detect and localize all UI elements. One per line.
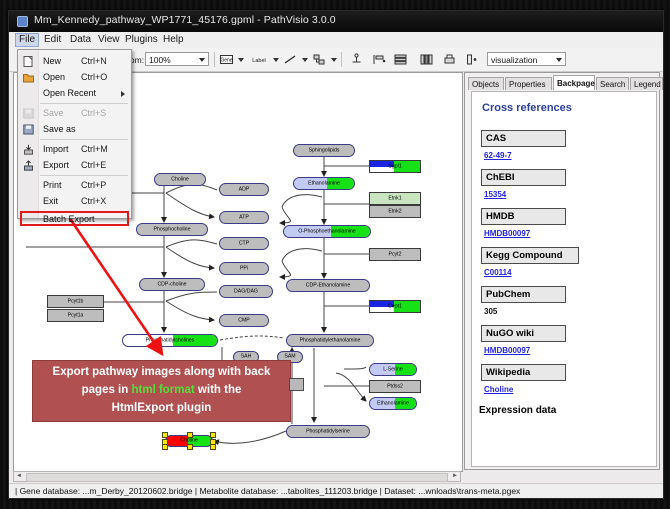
interaction-dropdown-icon[interactable] — [331, 58, 337, 62]
application-window: Mm_Kennedy_pathway_WP1771_45176.gpml - P… — [8, 10, 664, 499]
node-label: ATP — [220, 212, 268, 223]
xref-value-chebi[interactable]: 15354 — [484, 190, 506, 199]
scrollbar-thumb[interactable] — [26, 473, 448, 482]
export-icon — [23, 160, 34, 171]
submenu-arrow-icon — [121, 91, 125, 97]
xref-label-cas: CAS — [481, 130, 566, 147]
visualization-select[interactable]: visualization — [487, 52, 566, 66]
menu-plugins[interactable]: Plugins — [121, 34, 162, 46]
chevron-down-icon-2 — [556, 58, 562, 62]
expression-data-heading: Expression data — [479, 405, 556, 416]
node-label: Ethanolamine — [294, 178, 354, 189]
application-icon — [17, 16, 28, 27]
interaction-icon[interactable] — [312, 52, 327, 67]
tab-backpage[interactable]: Backpage — [553, 75, 595, 90]
gene-node-pcyt1a[interactable]: Pcyt1a — [47, 309, 104, 322]
node-label: Cept1 — [370, 301, 420, 312]
line-dropdown-icon[interactable] — [302, 58, 308, 62]
menu-file[interactable]: File — [15, 33, 39, 47]
node-label: CDP-Ethanolamine — [287, 280, 369, 291]
node-label: L-Serine — [370, 364, 416, 375]
sidebar-panel: Objects Properties Backpage Search Legen… — [464, 72, 660, 470]
metabolite-node-choline-bottom[interactable]: Choline — [165, 435, 213, 447]
menu-item-shortcut: Ctrl+M — [81, 144, 108, 154]
stack-icon[interactable] — [393, 52, 408, 67]
status-bar: | Gene database: ...m_Derby_20120602.bri… — [9, 483, 663, 498]
menu-separator — [40, 175, 128, 176]
node-label: Pcyt2 — [370, 249, 420, 260]
node-label: Phosphatidylserine — [287, 426, 369, 437]
svg-text:Label: Label — [252, 58, 265, 64]
datanode-icon[interactable]: Gene — [219, 52, 234, 67]
legend-icon[interactable] — [465, 52, 480, 67]
gene-node-sgpl1[interactable]: Sgpl1 — [369, 160, 421, 173]
menu-item-shortcut: Ctrl+O — [81, 72, 107, 82]
metabolite-node-cdp-ethanolamine[interactable]: CDP-Ethanolamine — [286, 279, 370, 292]
node-label: Etnk1 — [370, 193, 420, 204]
gene-node-cept1[interactable]: Cept1 — [369, 300, 421, 313]
canvas-horizontal-scrollbar[interactable]: ◄ ► — [13, 471, 461, 482]
annotation-banner: Export pathway images along with back pa… — [32, 360, 291, 422]
menu-item-save: SaveCtrl+S — [19, 106, 130, 121]
cross-references-heading: Cross references — [482, 102, 572, 114]
visualization-value: visualization — [491, 55, 537, 65]
align-icon[interactable] — [371, 52, 386, 67]
menu-item-label: Save — [43, 108, 64, 118]
metabolite-node-o-phosphoethanolamine[interactable]: O-Phosphoethanolamine — [283, 225, 371, 238]
toolbar-separator — [214, 52, 215, 67]
zoom-value: 100% — [149, 55, 171, 65]
metabolite-node-choline-top[interactable]: Choline — [154, 173, 206, 186]
node-label: Etnk2 — [370, 206, 420, 217]
xref-label-hmdb: HMDB — [481, 208, 566, 225]
import-icon — [23, 144, 34, 155]
menu-item-label: Save as — [43, 124, 76, 134]
xref-value-kegg[interactable]: C00114 — [484, 268, 512, 277]
metabolite-node-cmp[interactable]: CMP — [219, 314, 269, 327]
menu-data[interactable]: Data — [66, 34, 95, 46]
scroll-left-icon[interactable]: ◄ — [15, 473, 23, 480]
annotation-anchor-box — [289, 378, 304, 391]
node-label: Choline — [166, 436, 212, 447]
backpage-content[interactable]: Cross references CAS 62-49-7 ChEBI 15354… — [471, 91, 657, 467]
node-label: Ethanolamine — [370, 398, 416, 409]
xref-label-kegg: Kegg Compound — [481, 247, 579, 264]
menu-item-label: Open Recent — [43, 88, 96, 98]
menu-view[interactable]: View — [94, 34, 124, 46]
menu-item-label: Open — [43, 72, 65, 82]
node-label: Ptdss2 — [370, 381, 420, 392]
print-icon[interactable] — [442, 52, 457, 67]
metabolite-node-dagdag[interactable]: DAG/DAG — [219, 285, 273, 298]
menu-item-label: New — [43, 56, 61, 66]
xref-label-nugo: NuGO wiki — [481, 325, 566, 342]
node-label: CMP — [220, 315, 268, 326]
zoom-select[interactable]: 100% — [145, 52, 209, 66]
metabolite-node-cdp-choline[interactable]: CDP-choline — [139, 278, 205, 291]
batch-export-highlight — [20, 211, 129, 226]
metabolite-node-ethanolamine-bottom[interactable]: Ethanolamine — [369, 397, 417, 410]
gene-node-pcyt1b[interactable]: Pcyt1b — [47, 295, 104, 308]
node-label: O-Phosphoethanolamine — [284, 226, 370, 237]
xref-value-pubchem: 305 — [484, 307, 497, 316]
label-icon[interactable]: Label — [247, 52, 271, 67]
menu-item-exit[interactable]: ExitCtrl+X — [19, 194, 130, 209]
metabolite-node-phosphatidylserine[interactable]: Phosphatidylserine — [286, 425, 370, 438]
node-label: ADP — [220, 184, 268, 195]
tab-legend[interactable]: Legend — [630, 77, 663, 90]
line-icon[interactable] — [283, 52, 298, 67]
datanode-dropdown-icon[interactable] — [238, 58, 244, 62]
node-label: PPi — [220, 263, 268, 274]
tab-search[interactable]: Search — [596, 77, 629, 90]
xref-label-wikipedia: Wikipedia — [481, 364, 566, 381]
tab-properties[interactable]: Properties — [505, 77, 552, 90]
node-label: CTP — [220, 238, 268, 249]
save-disk-icon — [23, 108, 34, 119]
node-label: Phosphatidylcholines — [123, 335, 217, 346]
metabolite-node-ppi[interactable]: PPi — [219, 262, 269, 275]
menu-item-shortcut: Ctrl+P — [81, 180, 106, 190]
scroll-right-icon[interactable]: ► — [451, 473, 459, 480]
metabolite-node-phosphocholine[interactable]: Phosphocholine — [136, 223, 208, 236]
metabolite-node-ctp[interactable]: CTP — [219, 237, 269, 250]
node-label: DAG/DAG — [220, 286, 272, 297]
file-menu-popup[interactable]: NewCtrl+NOpenCtrl+OOpen RecentSaveCtrl+S… — [17, 49, 132, 219]
annotation-line-2b: with the — [195, 384, 242, 396]
gene-node-ptdss2[interactable]: Ptdss2 — [369, 380, 421, 393]
xref-label-chebi: ChEBI — [481, 169, 566, 186]
node-label: Sgpl1 — [370, 161, 420, 172]
metabolite-node-l-serine[interactable]: L-Serine — [369, 363, 417, 376]
xref-value-nugo[interactable]: HMDB00097 — [484, 346, 530, 355]
node-label: Sphingolipids — [294, 145, 354, 156]
menu-help[interactable]: Help — [159, 34, 188, 46]
metabolite-node-adp[interactable]: ADP — [219, 183, 269, 196]
group-icon[interactable] — [419, 52, 434, 67]
menu-item-shortcut: Ctrl+S — [81, 108, 106, 118]
menu-item-label: Exit — [43, 196, 58, 206]
menu-item-label: Print — [43, 180, 62, 190]
gene-node-etnk1[interactable]: Etnk1 — [369, 192, 421, 205]
menu-item-export[interactable]: ExportCtrl+E — [19, 158, 130, 173]
toolbar-separator-2 — [341, 52, 342, 67]
menu-item-label: Export — [43, 160, 69, 170]
menu-item-open-recent[interactable]: Open Recent — [19, 86, 130, 101]
metabolite-node-sphingolipids[interactable]: Sphingolipids — [293, 144, 355, 157]
svg-text:Gene: Gene — [220, 58, 232, 64]
node-label: Phosphatidylethanolamine — [287, 335, 373, 346]
menu-separator — [40, 103, 128, 104]
new-document-icon — [23, 56, 34, 67]
window-title: Mm_Kennedy_pathway_WP1771_45176.gpml - P… — [34, 14, 336, 26]
chevron-down-icon — [199, 58, 205, 62]
metabolite-node-atp[interactable]: ATP — [219, 211, 269, 224]
menu-item-import[interactable]: ImportCtrl+M — [19, 142, 130, 157]
metabolite-node-ethanolamine-top[interactable]: Ethanolamine — [293, 177, 355, 190]
menu-bar: File Edit Data View Plugins Help — [9, 32, 663, 49]
xref-value-hmdb[interactable]: HMDB00097 — [484, 229, 530, 238]
menu-item-label: Import — [43, 144, 69, 154]
menu-item-open[interactable]: OpenCtrl+O — [19, 70, 130, 85]
status-text: | Gene database: ...m_Derby_20120602.bri… — [15, 486, 520, 496]
menu-item-print[interactable]: PrintCtrl+P — [19, 178, 130, 193]
node-label: Pcyt1b — [48, 296, 103, 307]
menu-separator — [40, 139, 128, 140]
menu-item-shortcut: Ctrl+E — [81, 160, 106, 170]
node-label: Pcyt1a — [48, 310, 103, 321]
xref-value-cas[interactable]: 62-49-7 — [484, 151, 512, 160]
annotation-line-1: Export pathway images along with back — [33, 366, 290, 378]
metabolite-node-phosphatidylcholines[interactable]: Phosphatidylcholines — [122, 334, 218, 347]
label-dropdown-icon[interactable] — [273, 58, 279, 62]
menu-item-new[interactable]: NewCtrl+N — [19, 54, 130, 69]
tab-objects[interactable]: Objects — [468, 77, 504, 90]
save-as-icon — [23, 124, 34, 135]
node-label: Choline — [155, 174, 205, 185]
menu-edit[interactable]: Edit — [40, 34, 65, 46]
node-label: CDP-choline — [140, 279, 204, 290]
xref-value-wikipedia[interactable]: Choline — [484, 385, 513, 394]
menu-item-save-as[interactable]: Save as — [19, 122, 130, 137]
annotation-line-2: pages in html format with the — [33, 384, 290, 396]
menu-item-shortcut: Ctrl+N — [81, 56, 107, 66]
xref-label-pubchem: PubChem — [481, 286, 566, 303]
title-bar: Mm_Kennedy_pathway_WP1771_45176.gpml - P… — [9, 11, 663, 33]
gene-node-etnk2[interactable]: Etnk2 — [369, 205, 421, 218]
annotation-line-3: HtmlExport plugin — [33, 402, 290, 414]
annotation-line-2a: pages in — [82, 384, 132, 396]
node-label: Phosphocholine — [137, 224, 207, 235]
anchor-icon[interactable] — [349, 52, 364, 67]
open-folder-icon — [23, 72, 34, 83]
menu-item-shortcut: Ctrl+X — [81, 196, 106, 206]
annotation-highlight: html format — [131, 384, 194, 396]
gene-node-pcyt2[interactable]: Pcyt2 — [369, 248, 421, 261]
metabolite-node-phosphatidylethanolamine[interactable]: Phosphatidylethanolamine — [286, 334, 374, 347]
